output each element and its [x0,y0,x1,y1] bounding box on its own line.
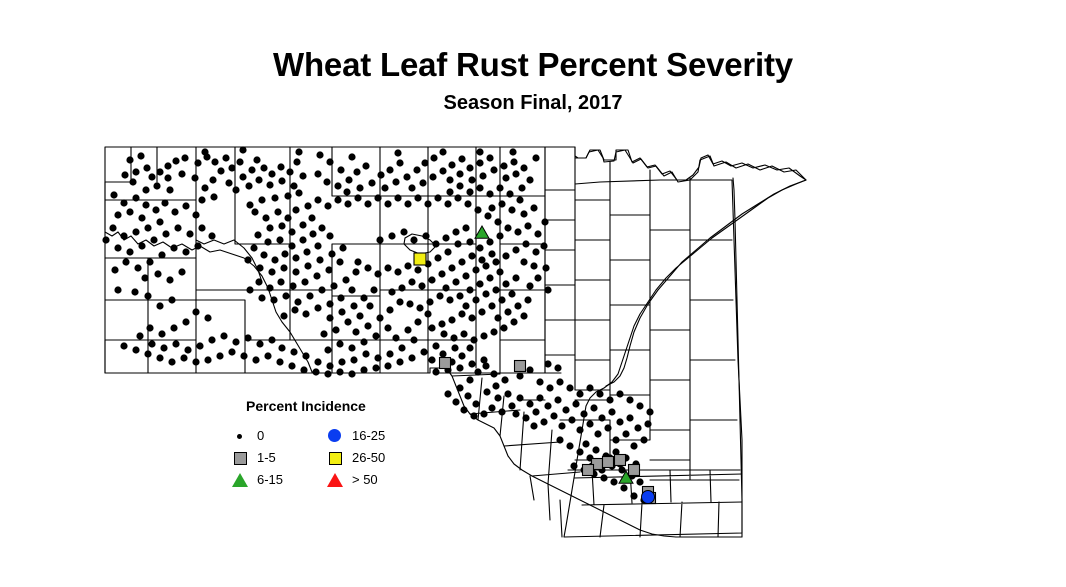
map-point-0 [244,256,251,263]
map-point-0 [592,446,599,453]
map-point-0 [144,292,151,299]
map-point-0 [540,242,547,249]
map-point-0 [290,182,297,189]
map-point-0 [114,286,121,293]
map-point-0 [264,238,271,245]
map-point-0 [345,176,352,183]
map-point-0 [299,221,306,228]
map-point-0 [502,174,509,181]
map-point-0 [430,154,437,161]
map-point-0 [239,173,246,180]
map-point-0 [376,314,383,321]
map-point-0 [201,184,208,191]
map-point-0 [126,248,133,255]
map-point-0 [496,184,503,191]
map-point-0 [120,342,127,349]
map-point-0 [580,410,587,417]
map-point-0 [388,232,395,239]
map-point-0 [394,149,401,156]
map-point-0 [316,151,323,158]
map-point-0 [408,354,415,361]
map-point-0 [171,208,178,215]
map-point-0 [424,200,431,207]
map-point-0 [282,292,289,299]
map-point-0 [111,266,118,273]
map-point-0 [530,204,537,211]
map-point-0 [196,342,203,349]
map-point-0 [488,250,495,257]
map-point-0 [626,396,633,403]
map-point-0 [434,254,441,261]
map-point-0 [131,288,138,295]
map-point-0 [170,324,177,331]
map-point-0 [486,190,493,197]
map-point-0 [604,424,611,431]
map-point-0 [590,404,597,411]
map-point-0 [403,173,410,180]
map-point-0 [364,322,371,329]
map-point-0 [456,384,463,391]
map-point-0 [622,430,629,437]
map-point-0 [454,194,461,201]
map-point-0 [294,298,301,305]
map-point-0 [606,396,613,403]
map-point-0 [220,332,227,339]
map-point-0 [516,196,523,203]
map-point-0 [126,156,133,163]
map-point-0 [498,408,505,415]
map-point-0 [160,344,167,351]
map-point-0 [462,224,469,231]
map-point-0 [232,186,239,193]
map-point-0 [302,310,309,317]
map-point-0 [478,256,485,263]
map-point-0 [526,282,533,289]
map-point-0 [516,394,523,401]
map-point-0 [129,178,136,185]
map-point-0 [278,344,285,351]
map-point-0 [470,336,477,343]
map-point-0 [182,202,189,209]
map-point-0 [161,199,168,206]
map-point-0 [458,310,465,317]
map-point-0 [472,296,479,303]
map-point-0 [472,400,479,407]
map-point-0 [568,416,575,423]
map-point-0 [337,294,344,301]
map-point-0 [288,362,295,369]
map-point-0 [337,166,344,173]
map-point-0 [348,370,355,377]
map-point-0 [522,414,529,421]
map-point-0 [492,382,499,389]
map-point-1-5 [629,465,640,476]
map-point-1-5 [583,465,594,476]
map-point-0 [201,148,208,155]
map-point-0 [476,184,483,191]
map-point-0 [540,418,547,425]
map-point-0 [428,276,435,283]
map-point-0 [460,406,467,413]
map-point-0 [178,170,185,177]
map-point-0 [339,244,346,251]
map-point-0 [468,360,475,367]
map-point-0 [192,358,199,365]
map-point-0 [456,182,463,189]
map-point-0 [586,384,593,391]
map-point-0 [610,478,617,485]
map-point-0 [508,206,515,213]
map-point-0 [164,162,171,169]
map-point-0 [466,286,473,293]
map-point-0 [156,302,163,309]
map-point-0 [438,270,445,277]
map-point-0 [520,210,527,217]
map-point-0 [460,330,467,337]
map-point-0 [262,214,269,221]
map-point-0 [514,228,521,235]
map-point-0 [544,286,551,293]
map-point-0 [222,154,229,161]
map-point-0 [488,204,495,211]
map-point-0 [504,308,511,315]
mn-north-border [545,147,806,180]
map-point-0 [414,318,421,325]
map-point-0 [520,258,527,265]
map-point-0 [466,188,473,195]
map-point-0 [256,264,263,271]
map-point-0 [325,266,332,273]
map-point-0 [122,258,129,265]
map-point-0 [376,236,383,243]
map-point-1-5 [440,358,451,369]
map-point-0 [343,188,350,195]
map-point-0 [496,268,503,275]
map-point-0 [494,314,501,321]
map-point-0 [480,410,487,417]
map-point-0 [225,179,232,186]
map-point-0 [255,176,262,183]
map-point-0 [314,196,321,203]
map-point-0 [326,158,333,165]
map-point-0 [410,236,417,243]
map-point-0 [368,179,375,186]
map-point-0 [318,224,325,231]
map-point-0 [482,262,489,269]
map-point-0 [356,184,363,191]
map-point-0 [386,350,393,357]
map-point-0 [466,164,473,171]
map-point-0 [422,232,429,239]
map-point-0 [156,354,163,361]
map-point-0 [301,278,308,285]
map-point-0 [508,402,515,409]
map-point-0 [566,384,573,391]
map-point-0 [558,422,565,429]
map-point-0 [413,166,420,173]
map-point-0 [168,358,175,365]
map-point-0 [268,268,275,275]
map-point-0 [228,348,235,355]
map-point-0 [454,240,461,247]
map-point-0 [640,436,647,443]
map-point-0 [440,330,447,337]
map-point-0 [634,424,641,431]
map-point-0 [419,179,426,186]
map-point-0 [114,211,121,218]
map-point-0 [191,174,198,181]
map-point-0 [466,344,473,351]
map-point-0 [194,159,201,166]
map-point-0 [526,176,533,183]
map-figure: Wheat Leaf Rust Percent Severity Season … [0,0,1066,587]
map-point-0 [304,202,311,209]
map-point-0 [280,264,287,271]
map-point-0 [137,152,144,159]
map-point-0 [506,190,513,197]
map-point-0 [284,214,291,221]
map-point-0 [114,244,121,251]
map-point-0 [194,242,201,249]
map-point-0 [556,436,563,443]
map-point-0 [501,376,508,383]
map-point-0 [404,262,411,269]
map-point-0 [554,364,561,371]
map-point-0 [384,200,391,207]
map-point-0 [258,196,265,203]
map-point-0 [136,332,143,339]
map-point-0 [120,199,127,206]
map-point-0 [483,388,490,395]
map-point-0 [184,346,191,353]
map-point-0 [534,230,541,237]
map-point-0 [323,178,330,185]
map-point-0 [281,250,288,257]
map-point-0 [429,173,436,180]
map-point-0 [572,400,579,407]
lake-superior-shore [606,180,806,386]
map-point-16-25 [642,491,655,504]
map-point-1-5 [515,361,526,372]
map-point-0 [476,280,483,287]
map-point-0 [170,244,177,251]
map-point-0 [446,296,453,303]
map-point-0 [352,268,359,275]
map-point-0 [598,414,605,421]
map-point-0 [209,176,216,183]
map-point-0 [260,164,267,171]
map-point-0 [428,356,435,363]
map-point-0 [512,246,519,253]
map-point-0 [353,168,360,175]
map-point-0 [451,344,458,351]
map-point-0 [544,360,551,367]
map-point-0 [554,396,561,403]
map-point-0 [394,194,401,201]
map-point-0 [354,258,361,265]
map-point-0 [476,159,483,166]
map-point-0 [396,159,403,166]
map-point-0 [132,346,139,353]
map-point-0 [490,370,497,377]
map-point-0 [570,462,577,469]
map-point-0 [636,402,643,409]
map-point-0 [616,418,623,425]
legend-item-label: 0 [257,428,264,443]
map-point-0 [364,264,371,271]
map-point-0 [362,350,369,357]
map-point-0 [476,148,483,155]
map-graphic [0,0,1066,587]
map-point-0 [462,272,469,279]
map-point-0 [630,442,637,449]
map-point-0 [338,308,345,315]
map-point-0 [576,448,583,455]
map-point-0 [470,412,477,419]
map-point-0 [302,352,309,359]
map-point-0 [644,420,651,427]
map-point-0 [246,201,253,208]
map-point-0 [504,390,511,397]
map-point-0 [448,161,455,168]
map-point-0 [252,356,259,363]
map-point-0 [277,163,284,170]
map-point-0 [288,228,295,235]
legend-item-label: > 50 [352,472,378,487]
map-point-0 [400,228,407,235]
map-point-0 [498,296,505,303]
map-point-0 [308,214,315,221]
map-point-0 [586,420,593,427]
map-point-0 [370,286,377,293]
map-point-0 [277,278,284,285]
legend-item-label: 1-5 [257,450,276,465]
map-point-0 [404,200,411,207]
map-point-0 [448,264,455,271]
map-point-0 [458,352,465,359]
map-point-0 [406,300,413,307]
map-point-0 [394,268,401,275]
map-point-0 [508,290,515,297]
map-point-0 [496,232,503,239]
map-point-0 [439,148,446,155]
map-point-0 [121,171,128,178]
legend: Percent Incidence 01-56-1516-2526-50> 50 [233,398,413,498]
legend-item-label: 6-15 [257,472,283,487]
map-point-0 [432,368,439,375]
map-point-0 [240,352,247,359]
map-point-0 [542,264,549,271]
map-point-0 [524,296,531,303]
map-point-0 [324,370,331,377]
map-point-0 [494,218,501,225]
map-point-0 [421,159,428,166]
map-point-0 [326,232,333,239]
map-point-0 [312,368,319,375]
map-point-0 [518,184,525,191]
map-point-0 [143,164,150,171]
map-point-0 [336,258,343,265]
map-point-0 [416,304,423,311]
map-point-0 [438,320,445,327]
map-point-0 [388,288,395,295]
map-point-1-5 [603,457,614,468]
map-point-0 [251,208,258,215]
legend-square-icon [329,452,342,465]
map-point-0 [362,162,369,169]
map-point-0 [646,408,653,415]
map-point-0 [484,212,491,219]
map-point-0 [372,332,379,339]
map-point-0 [594,430,601,437]
map-point-0 [292,268,299,275]
map-point-0 [348,344,355,351]
map-point-0 [408,278,415,285]
map-point-0 [293,158,300,165]
map-point-0 [334,196,341,203]
legend-square-icon [234,452,247,465]
map-point-0 [210,193,217,200]
map-point-0 [290,348,297,355]
map-point-0 [142,186,149,193]
map-point-0 [456,292,463,299]
map-point-0 [348,286,355,293]
map-point-0 [146,258,153,265]
map-point-0 [626,414,633,421]
map-point-0 [166,276,173,283]
map-point-0 [536,378,543,385]
map-point-0 [354,194,361,201]
map-point-0 [192,308,199,315]
map-point-0 [414,266,421,273]
map-point-1-5 [615,455,626,466]
map-point-0 [324,202,331,209]
map-point-0 [271,256,278,263]
map-point-0 [582,440,589,447]
map-point-0 [232,338,239,345]
legend-item-label: 16-25 [352,428,385,443]
map-point-0 [274,208,281,215]
map-point-0 [530,422,537,429]
map-point-0 [350,356,357,363]
map-point-0 [326,314,333,321]
map-point-0 [348,153,355,160]
map-point-0 [156,218,163,225]
map-point-0 [408,184,415,191]
map-point-0 [476,244,483,251]
map-point-0 [150,236,157,243]
legend-dot-icon [237,434,242,439]
map-point-0 [182,248,189,255]
map-point-0 [217,167,224,174]
map-point-0 [532,154,539,161]
map-point-0 [482,290,489,297]
map-point-0 [332,326,339,333]
map-point-0 [600,474,607,481]
map-point-0 [532,408,539,415]
map-point-0 [480,332,487,339]
map-point-0 [452,278,459,285]
map-point-0 [146,324,153,331]
map-point-6-15 [475,226,489,238]
map-point-0 [562,406,569,413]
map-point-0 [392,334,399,341]
map-point-0 [566,442,573,449]
map-point-0 [474,368,481,375]
legend-triangle-icon [232,473,248,487]
map-point-0 [299,172,306,179]
map-point-0 [384,362,391,369]
